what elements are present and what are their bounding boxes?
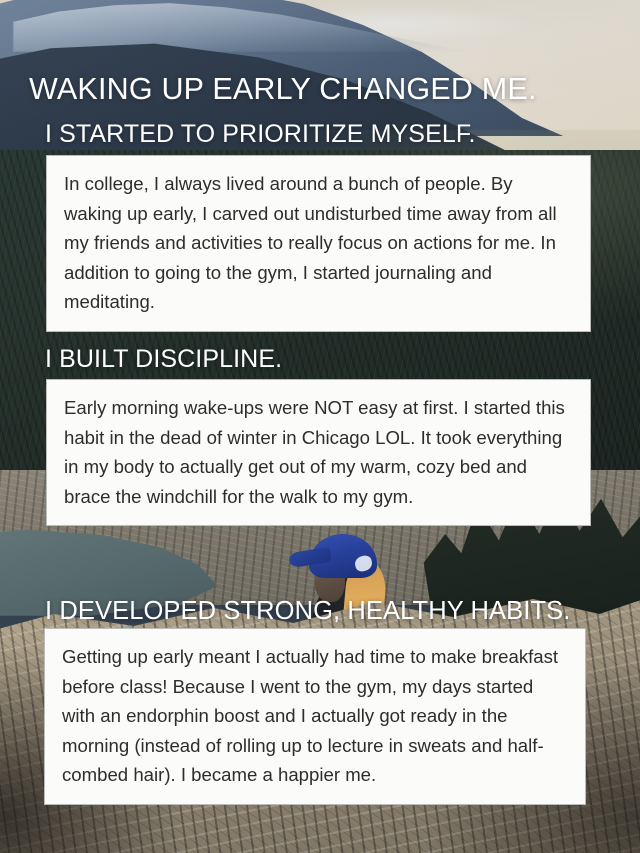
story-card: WAKING UP EARLY CHANGED ME. I STARTED TO…: [0, 0, 640, 853]
section-heading-1: I STARTED TO PRIORITIZE MYSELF.: [45, 120, 476, 149]
main-headline: WAKING UP EARLY CHANGED ME.: [29, 72, 629, 107]
section-heading-3: I DEVELOPED STRONG, HEALTHY HABITS.: [45, 597, 570, 626]
section-body-3: Getting up early meant I actually had ti…: [62, 642, 568, 790]
section-body-2: Early morning wake-ups were NOT easy at …: [64, 393, 573, 511]
section-body-1: In college, I always lived around a bunc…: [64, 169, 573, 317]
section-textbox-3: Getting up early meant I actually had ti…: [44, 628, 586, 805]
section-textbox-2: Early morning wake-ups were NOT easy at …: [46, 379, 591, 526]
section-heading-2: I BUILT DISCIPLINE.: [45, 345, 282, 374]
text-overlay: WAKING UP EARLY CHANGED ME. I STARTED TO…: [0, 0, 640, 853]
section-textbox-1: In college, I always lived around a bunc…: [46, 155, 591, 332]
